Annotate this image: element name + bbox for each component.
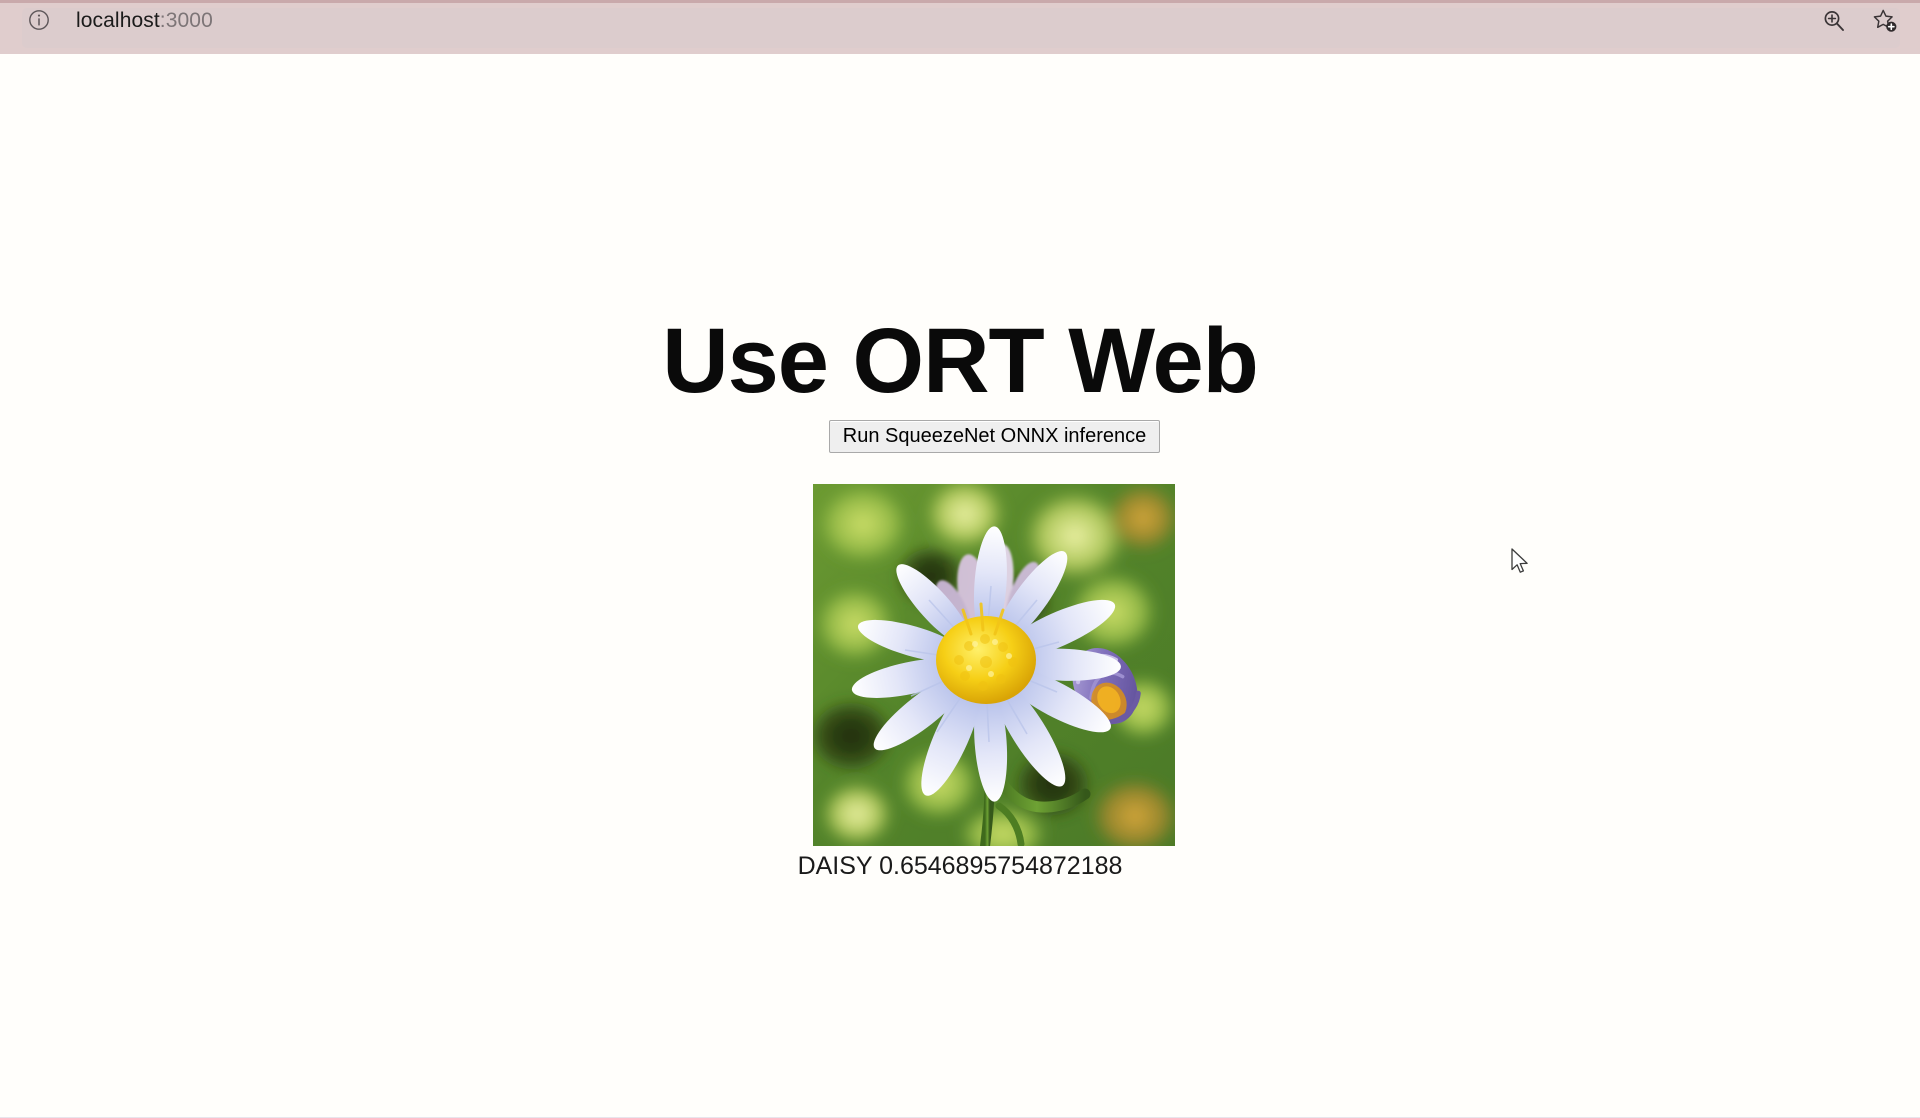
star-add-bookmark-icon[interactable] (1872, 8, 1898, 34)
page-title: Use ORT Web (0, 308, 1920, 414)
inference-image (813, 484, 1175, 846)
address-bar[interactable] (22, 8, 1900, 48)
zoom-in-icon[interactable] (1822, 9, 1846, 33)
url-host: localhost (76, 9, 160, 32)
prediction-result-text: DAISY 0.6546895754872188 (0, 851, 1920, 881)
address-bar-url[interactable]: localhost:3000 (76, 8, 213, 33)
page-viewport: Use ORT Web Run SqueezeNet ONNX inferenc… (0, 54, 1920, 1078)
chrome-top-edge (0, 0, 1920, 3)
browser-toolbar: localhost:3000 (0, 0, 1920, 54)
info-circle-icon[interactable] (28, 9, 50, 31)
run-inference-button[interactable]: Run SqueezeNet ONNX inference (829, 420, 1160, 453)
url-port: :3000 (160, 9, 213, 32)
